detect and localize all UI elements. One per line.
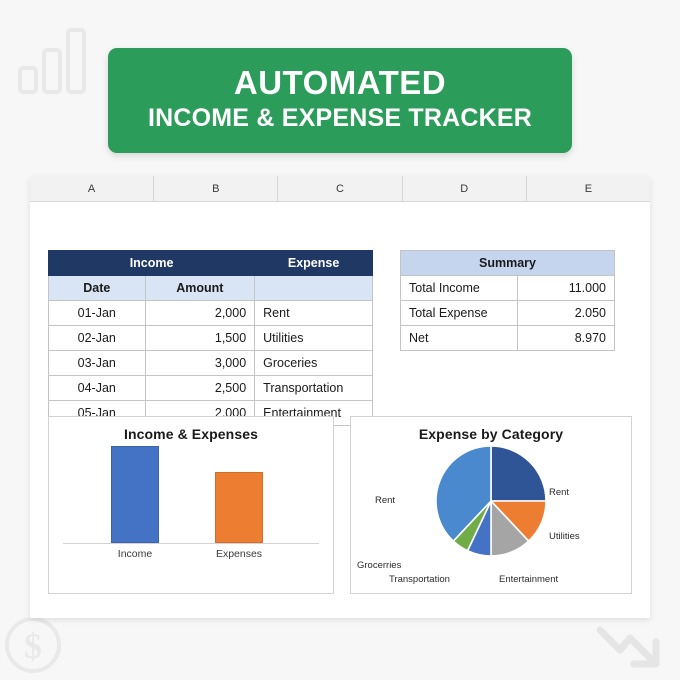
bar-rect-income[interactable] bbox=[111, 446, 159, 543]
column-header-a[interactable]: A bbox=[30, 176, 154, 201]
column-header-d[interactable]: D bbox=[403, 176, 527, 201]
banner-title-line2: INCOME & EXPENSE TRACKER bbox=[118, 104, 562, 134]
summary-label-total-expense[interactable]: Total Expense bbox=[401, 301, 518, 326]
summary-value-total-expense[interactable]: 2.050 bbox=[518, 301, 615, 326]
bar-chart-axis-line bbox=[63, 543, 319, 544]
income-title-cell: Income bbox=[49, 251, 255, 276]
pie-chart-panel[interactable]: Expense by Category Rent Utilities Enter… bbox=[350, 416, 632, 594]
pie-label-transportation: Transportation bbox=[389, 574, 450, 585]
header-amount: Amount bbox=[145, 276, 255, 301]
cell-amount[interactable]: 2,000 bbox=[145, 301, 255, 326]
pie-label-rent-right: Rent bbox=[549, 487, 569, 498]
cell-amount[interactable]: 2,500 bbox=[145, 376, 255, 401]
dollar-coin-icon: $ bbox=[2, 614, 64, 680]
bar-label-income: Income bbox=[118, 548, 152, 560]
bar-chart-title: Income & Expenses bbox=[49, 417, 333, 442]
cell-category[interactable]: Groceries bbox=[255, 351, 373, 376]
summary-row[interactable]: Total Expense 2.050 bbox=[401, 301, 615, 326]
income-expense-table: Income Expense Date Amount 01-Jan 2,000 … bbox=[48, 250, 373, 426]
header-banner: AUTOMATED INCOME & EXPENSE TRACKER bbox=[108, 48, 572, 153]
cell-category[interactable]: Transportation bbox=[255, 376, 373, 401]
summary-label-net[interactable]: Net bbox=[401, 326, 518, 351]
cell-date[interactable]: 03-Jan bbox=[49, 351, 146, 376]
cell-category[interactable]: Rent bbox=[255, 301, 373, 326]
tables-area: Income Expense Date Amount 01-Jan 2,000 … bbox=[30, 202, 650, 392]
charts-area: Income & Expenses Income Expenses Expens… bbox=[30, 416, 650, 594]
column-header-b[interactable]: B bbox=[154, 176, 278, 201]
column-header-e[interactable]: E bbox=[527, 176, 650, 201]
cell-amount[interactable]: 1,500 bbox=[145, 326, 255, 351]
table-title-row: Income Expense bbox=[49, 251, 373, 276]
trend-down-arrow-icon bbox=[596, 612, 668, 679]
banner-title-line1: AUTOMATED bbox=[118, 66, 562, 101]
summary-title-row: Summary bbox=[401, 251, 615, 276]
summary-row[interactable]: Net 8.970 bbox=[401, 326, 615, 351]
table-row[interactable]: 02-Jan 1,500 Utilities bbox=[49, 326, 373, 351]
summary-title-cell: Summary bbox=[401, 251, 615, 276]
table-header-row: Date Amount bbox=[49, 276, 373, 301]
summary-value-total-income[interactable]: 11.000 bbox=[518, 276, 615, 301]
header-category-blank bbox=[255, 276, 373, 301]
summary-table: Summary Total Income 11.000 Total Expens… bbox=[400, 250, 615, 351]
svg-text:$: $ bbox=[24, 626, 42, 666]
header-banner-row: AUTOMATED INCOME & EXPENSE TRACKER bbox=[0, 48, 680, 153]
table-row[interactable]: 03-Jan 3,000 Groceries bbox=[49, 351, 373, 376]
bar-chart-plot: Income Expenses bbox=[63, 446, 319, 564]
summary-value-net[interactable]: 8.970 bbox=[518, 326, 615, 351]
summary-row[interactable]: Total Income 11.000 bbox=[401, 276, 615, 301]
pie-slice-rent[interactable] bbox=[491, 446, 546, 501]
table-row[interactable]: 01-Jan 2,000 Rent bbox=[49, 301, 373, 326]
header-date: Date bbox=[49, 276, 146, 301]
bar-column-income[interactable]: Income bbox=[111, 446, 159, 543]
cell-amount[interactable]: 3,000 bbox=[145, 351, 255, 376]
pie-label-grocerries: Grocerries bbox=[357, 560, 401, 571]
pie-label-utilities: Utilities bbox=[549, 531, 580, 542]
pie-label-rent-left: Rent bbox=[375, 495, 395, 506]
pie-chart-plot: Rent Utilities Entertainment Transportat… bbox=[351, 443, 631, 583]
cell-date[interactable]: 02-Jan bbox=[49, 326, 146, 351]
column-header-c[interactable]: C bbox=[278, 176, 402, 201]
cell-category[interactable]: Utilities bbox=[255, 326, 373, 351]
bar-column-expenses[interactable]: Expenses bbox=[215, 472, 263, 543]
summary-label-total-income[interactable]: Total Income bbox=[401, 276, 518, 301]
cell-date[interactable]: 01-Jan bbox=[49, 301, 146, 326]
cell-date[interactable]: 04-Jan bbox=[49, 376, 146, 401]
bar-label-expenses: Expenses bbox=[216, 548, 262, 560]
spreadsheet-card: A B C D E Income Expense Date Amount 01-… bbox=[30, 176, 650, 618]
table-row[interactable]: 04-Jan 2,500 Transportation bbox=[49, 376, 373, 401]
pie-chart-title: Expense by Category bbox=[351, 417, 631, 442]
pie-label-entertainment: Entertainment bbox=[499, 574, 558, 585]
bar-rect-expenses[interactable] bbox=[215, 472, 263, 543]
expense-title-cell: Expense bbox=[255, 251, 373, 276]
bar-chart-panel[interactable]: Income & Expenses Income Expenses bbox=[48, 416, 334, 594]
column-header-strip: A B C D E bbox=[30, 176, 650, 202]
